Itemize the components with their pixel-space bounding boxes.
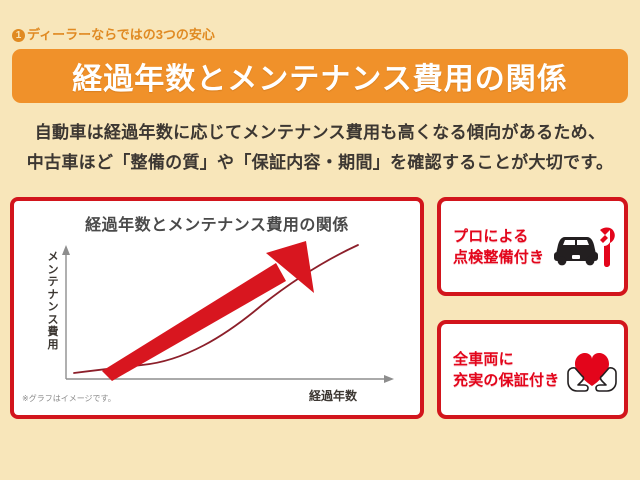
car-wrench-icon-svg xyxy=(550,224,618,270)
y-axis-label-char: ナ xyxy=(45,289,61,302)
trend-arrow xyxy=(102,241,314,381)
y-axis-label-char: メ xyxy=(45,251,61,264)
feature-card-text: 全車両に 充実の保証付き xyxy=(441,349,559,391)
banner-title: 経過年数とメンテナンス費用の関係 xyxy=(72,54,567,98)
feature-card-warranty: 全車両に 充実の保証付き xyxy=(437,320,628,419)
y-axis-label-char: ン xyxy=(45,264,61,277)
feature-line-2: 充実の保証付き xyxy=(453,370,559,391)
eyebrow-label: ディーラーならではの3つの安心 xyxy=(27,27,215,42)
y-axis-label-char: 用 xyxy=(45,339,61,352)
chart-card: 経過年数とメンテナンス費用の関係 メ ン xyxy=(10,197,424,419)
section-banner: 経過年数とメンテナンス費用の関係 xyxy=(12,49,628,103)
chart-footnote: ※グラフはイメージです。 xyxy=(22,393,116,404)
x-axis-label: 経過年数 xyxy=(309,387,357,404)
trend-arrow-shaft xyxy=(102,263,286,381)
lead-paragraph: 自動車は経過年数に応じてメンテナンス費用も高くなる傾向があるため、 中古車ほど「… xyxy=(0,118,640,178)
chart-svg xyxy=(14,201,420,415)
hands-heart-icon-svg xyxy=(559,346,625,394)
feature-card-text: プロによる 点検整備付き xyxy=(441,226,544,268)
y-axis-label-char: ン xyxy=(45,301,61,314)
feature-line-1: 全車両に xyxy=(453,349,559,370)
y-axis-label-char: 費 xyxy=(45,326,61,339)
car-icon xyxy=(554,237,598,265)
car-wrench-icon xyxy=(544,224,624,270)
infographic-page: 1ディーラーならではの3つの安心 経過年数とメンテナンス費用の関係 自動車は経過… xyxy=(0,0,640,480)
wrench-icon xyxy=(600,227,615,266)
hands-heart-icon xyxy=(559,346,625,394)
y-axis-arrowhead xyxy=(62,245,70,255)
x-axis-arrowhead xyxy=(384,375,394,383)
eyebrow-heading: 1ディーラーならではの3つの安心 xyxy=(12,24,215,43)
feature-line-1: プロによる xyxy=(453,226,544,247)
y-axis-label-char: テ xyxy=(45,276,61,289)
y-axis-label: メ ン テ ナ ン ス 費 用 xyxy=(45,251,61,351)
eyebrow-number-badge: 1 xyxy=(12,29,25,42)
y-axis-label-char: ス xyxy=(45,314,61,327)
feature-card-inspection: プロによる 点検整備付き xyxy=(437,197,628,296)
feature-line-2: 点検整備付き xyxy=(453,247,544,268)
lead-line-1: 自動車は経過年数に応じてメンテナンス費用も高くなる傾向があるため、 xyxy=(0,118,640,148)
chart-plot-area: メ ン テ ナ ン ス 費 用 経過年数 ※グラフはイメージです。 xyxy=(14,201,420,415)
lead-line-2: 中古車ほど「整備の質」や「保証内容・期間」を確認することが大切です。 xyxy=(0,148,640,178)
